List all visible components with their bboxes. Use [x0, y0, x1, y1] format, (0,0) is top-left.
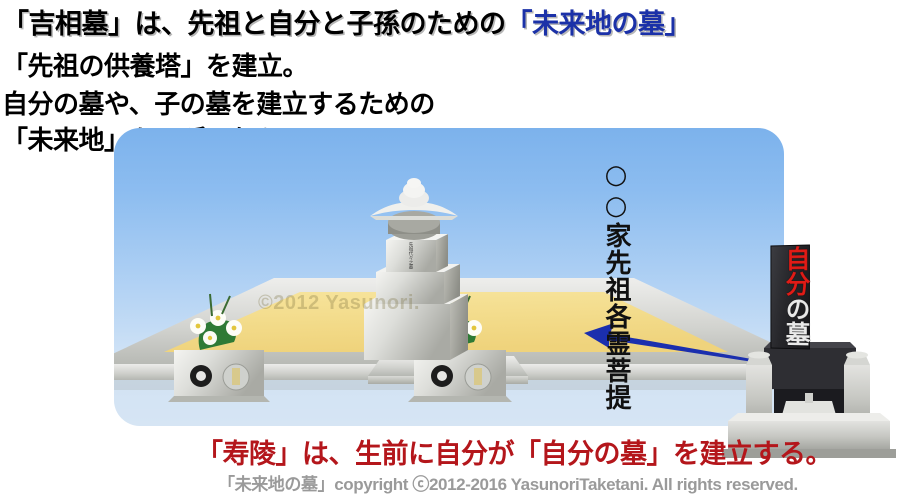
- bottom-caption-part-1: 「寿陵」は、生前に自分が「自分の墓」: [196, 439, 673, 469]
- own-grave-inscription-red: 自分: [782, 245, 810, 296]
- bottom-caption-part-2: を建立する。: [673, 439, 832, 469]
- own-grave-stele: 自分の墓: [770, 244, 810, 349]
- headline-line-1-accent: 「未来地の墓」: [506, 9, 692, 39]
- own-grave-inscription: 自分の墓: [771, 246, 809, 347]
- slide-canvas: 「吉相墓」は、先祖と自分と子孫のための「未来地の墓」 「先祖の供養塔」を建立。 …: [0, 0, 900, 495]
- offering-box-left: [168, 350, 270, 402]
- headline-line-1: 「吉相墓」は、先祖と自分と子孫のための「未来地の墓」: [2, 2, 691, 41]
- watermark-text: ©2012 Yasunori.: [258, 292, 420, 315]
- pagoda-inscription-text: 先祖代々之墓: [409, 242, 414, 269]
- illustration-panel: 先祖代々之墓: [114, 128, 784, 426]
- grave-vertical-inscription: ○○家先祖各霊菩提: [602, 160, 629, 411]
- headline-line-3: 自分の墓や、子の墓を建立するための: [2, 84, 435, 121]
- cemetery-ground-illustration: [114, 128, 784, 426]
- headline-line-1-plain: 「吉相墓」は、先祖と自分と子孫のための: [2, 9, 506, 39]
- ancestor-memorial-pagoda: [364, 178, 468, 360]
- copyright-notice: 「未来地の墓」copyright ⓒ2012-2016 YasunoriTake…: [218, 470, 798, 495]
- own-grave-illustration: 自分の墓: [718, 243, 900, 458]
- own-grave-inscription-white: の墓: [782, 296, 810, 346]
- bottom-caption: 「寿陵」は、生前に自分が「自分の墓」を建立する。: [196, 432, 832, 471]
- headline-line-2: 「先祖の供養塔」を建立。: [2, 46, 308, 83]
